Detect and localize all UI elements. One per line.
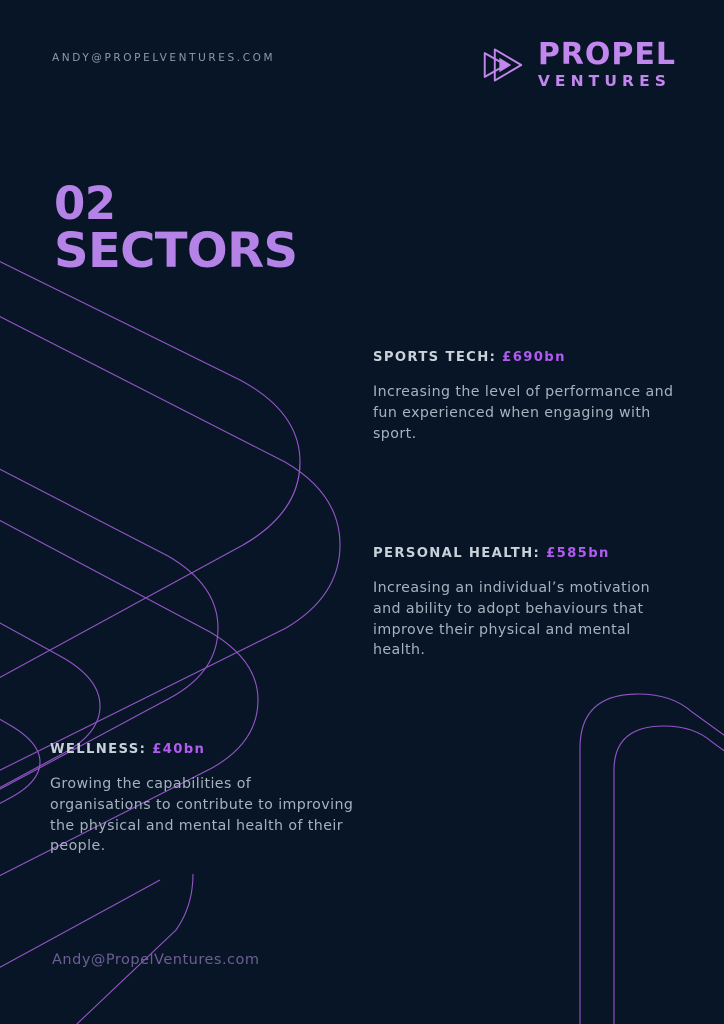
sector-block-wellness: WELLNESS: £40bn Growing the capabilities… [50,742,355,857]
logo-word-propel: PROPEL [538,40,676,70]
sector-body-sports-tech: Increasing the level of performance and … [373,382,678,444]
sector-body-personal-health: Increasing an individual’s motivation an… [373,578,678,661]
poster-header: ANDY@PROPELVENTURES.COM PROPEL VENTURES [0,0,724,110]
sector-amount-personal-health: £585bn [546,546,610,561]
logo-word-ventures: VENTURES [538,74,676,90]
sector-amount-wellness: £40bn [152,742,205,757]
section-number: 02 [54,182,297,226]
page-title: 02 SECTORS [54,182,297,275]
sector-label-wellness: WELLNESS: [50,742,146,757]
section-title-text: SECTORS [54,228,297,275]
sector-heading-sports-tech: SPORTS TECH: £690bn [373,350,678,365]
sector-amount-sports-tech: £690bn [502,350,566,365]
sector-block-sports-tech: SPORTS TECH: £690bn Increasing the level… [373,350,678,444]
sector-label-personal-health: PERSONAL HEALTH: [373,546,540,561]
logo-wordmark: PROPEL VENTURES [538,40,676,90]
decorative-chevron-lines-left [0,0,724,1024]
decorative-curve-lines-bottom-right [0,0,724,1024]
propel-play-triangle-logo-icon [481,44,525,86]
sector-body-wellness: Growing the capabilities of organisation… [50,774,355,857]
sector-label-sports-tech: SPORTS TECH: [373,350,496,365]
slide-canvas: ANDY@PROPELVENTURES.COM PROPEL VENTURES … [0,0,724,1024]
header-email-label: ANDY@PROPELVENTURES.COM [52,52,275,64]
footer-email-link[interactable]: Andy@PropelVentures.com [52,952,260,968]
sector-heading-wellness: WELLNESS: £40bn [50,742,355,757]
sector-block-personal-health: PERSONAL HEALTH: £585bn Increasing an in… [373,546,678,661]
propel-ventures-logo[interactable]: PROPEL VENTURES [481,40,676,90]
sector-heading-personal-health: PERSONAL HEALTH: £585bn [373,546,678,561]
